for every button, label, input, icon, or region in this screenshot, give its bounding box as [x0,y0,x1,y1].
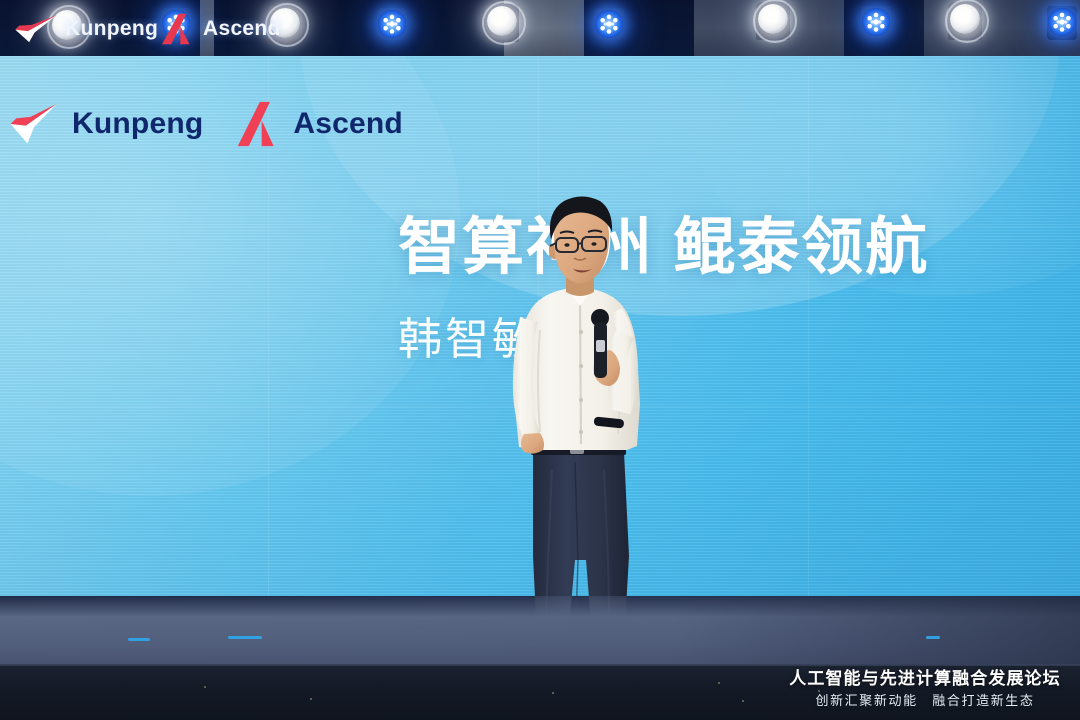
forum-subtitle: 创新汇聚新动能 融合打造新生态 [780,693,1070,710]
floor-tape-mark [926,636,940,639]
stage-floor [0,596,1080,666]
floor-tape-mark [228,636,262,639]
forum-branding-bug: 人工智能与先进计算融合发展论坛 创新汇聚新动能 融合打造新生态 [780,668,1070,710]
floor-tape-mark [128,638,150,641]
forum-title: 人工智能与先进计算融合发展论坛 [780,668,1070,689]
conference-stage-photo: Kunpeng Ascend [0,0,1080,720]
presenter-hand-left [521,433,544,454]
